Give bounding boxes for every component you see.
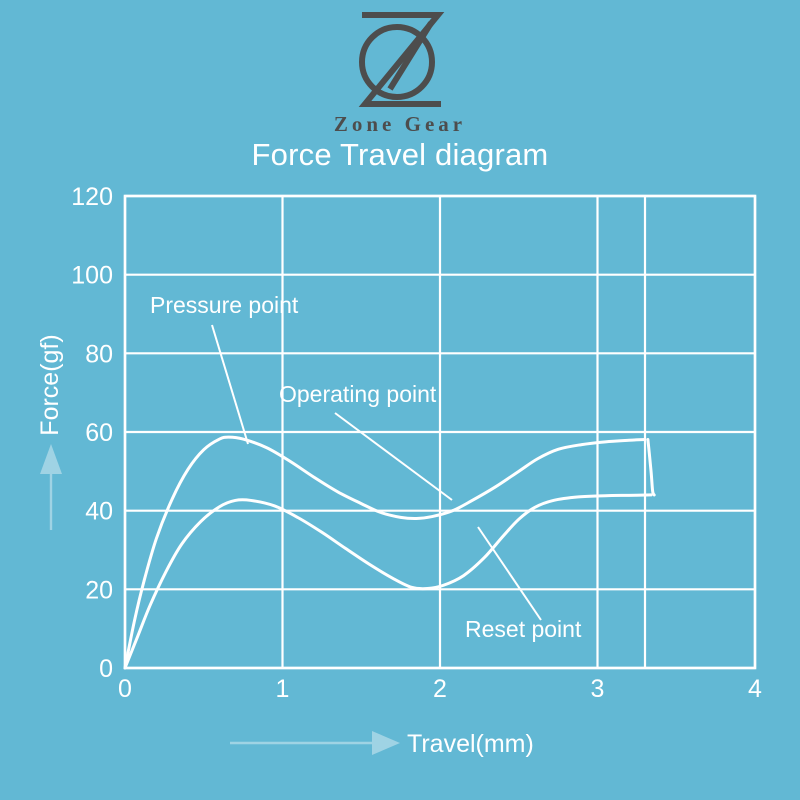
x-tick-1: 1	[276, 675, 290, 703]
y-tick-40: 40	[85, 498, 113, 526]
y-tick-20: 20	[85, 576, 113, 604]
x-tick-3: 3	[591, 675, 605, 703]
chart-canvas: Zone Gear Force Travel diagram	[0, 0, 800, 800]
release-stroke-curve	[125, 495, 651, 668]
x-axis-arrow-icon	[230, 731, 400, 755]
annotation-pressure-point: Pressure point	[150, 292, 299, 444]
annotation-label: Pressure point	[150, 292, 299, 318]
force-travel-plot: 120 100 80 60 40 20 0 0 1 2 3 4 Force(gf…	[0, 0, 800, 800]
annotation-label: Reset point	[465, 616, 582, 642]
y-axis-title: Force(gf)	[36, 334, 64, 435]
annotation-label: Operating point	[279, 381, 437, 407]
press-stroke-drop-curve	[648, 439, 654, 494]
annotation-operating-point: Operating point	[279, 381, 452, 500]
y-axis-arrow-icon	[40, 444, 62, 530]
x-tick-0: 0	[118, 675, 132, 703]
x-axis-tick-labels: 0 1 2 3 4	[118, 675, 762, 703]
y-tick-0: 0	[99, 655, 113, 683]
x-tick-2: 2	[433, 675, 447, 703]
x-tick-4: 4	[748, 675, 762, 703]
y-tick-100: 100	[71, 262, 113, 290]
y-tick-120: 120	[71, 183, 113, 211]
y-tick-60: 60	[85, 419, 113, 447]
annotation-reset-point: Reset point	[465, 527, 582, 642]
y-tick-80: 80	[85, 340, 113, 368]
x-axis-title: Travel(mm)	[407, 730, 534, 758]
y-axis-tick-labels: 120 100 80 60 40 20 0	[71, 183, 113, 683]
